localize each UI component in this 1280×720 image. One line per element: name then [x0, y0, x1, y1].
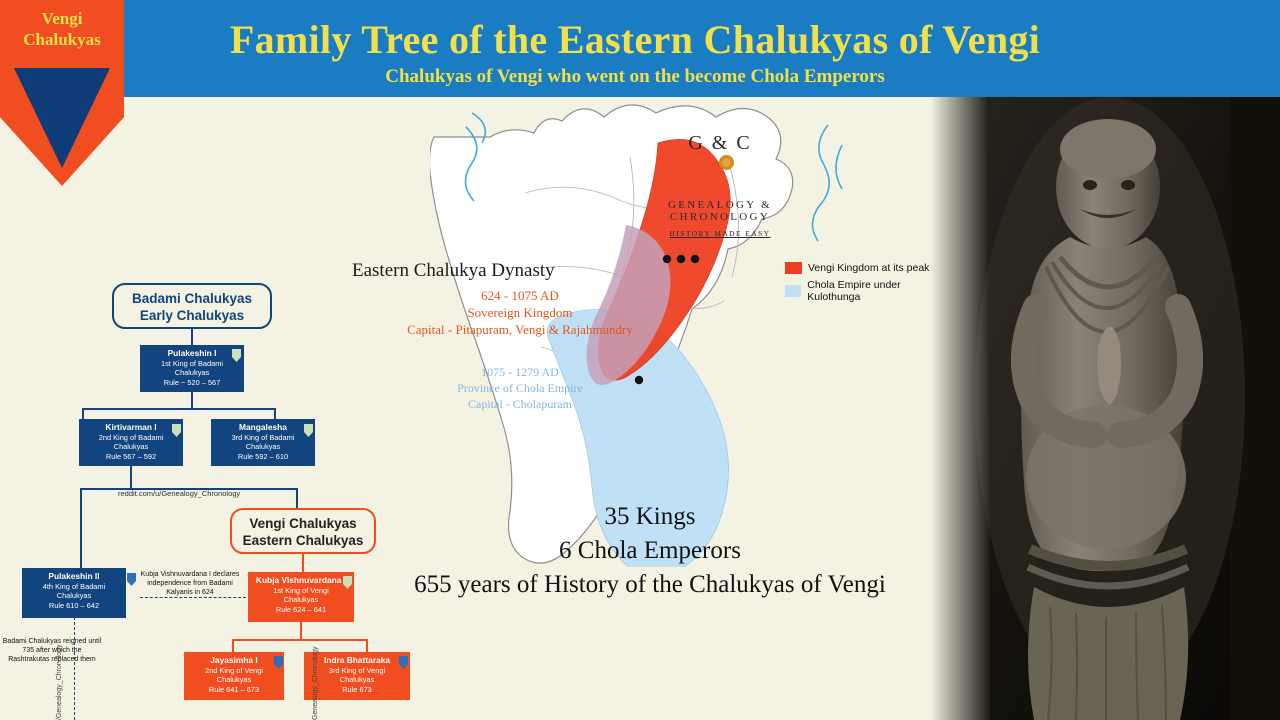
pill-vengi-line2: Eastern Chalukyas [240, 532, 366, 549]
node-mangalesha-name: Mangalesha [213, 422, 313, 433]
node-indra-bhattaraka[interactable]: Indra Bhattaraka 3rd King of Vengi Chalu… [304, 652, 410, 700]
node-kirtivarman-i-l1: 2nd King of Badami [99, 433, 164, 442]
stats-block: 35 Kings 6 Chola Emperors 655 years of H… [370, 500, 930, 602]
node-jayasimha-i[interactable]: Jayasimha I 2nd King of Vengi Chalukyas … [184, 652, 284, 700]
map-legend: Vengi Kingdom at its peak Chola Empire u… [785, 262, 950, 308]
legend-swatch-chola [785, 285, 801, 297]
node-jayasimha-name: Jayasimha I [186, 655, 282, 666]
dashed-line-badami-continue [74, 617, 75, 720]
stat-emperors: 6 Chola Emperors [370, 534, 930, 568]
shield-icon-pulakeshin-ii [127, 573, 136, 586]
connector-h-gen-vengi2 [232, 639, 368, 641]
family-tree: Badami Chalukyas Early Chalukyas Pulakes… [0, 97, 430, 720]
crest-text: Vengi Chalukyas [0, 8, 124, 50]
crest-line-2: Chalukyas [0, 29, 124, 50]
legend-swatch-vengi [785, 262, 802, 274]
node-pulakeshin-ii-l2: Chalukyas [57, 591, 92, 600]
page-header: Family Tree of the Eastern Chalukyas of … [0, 0, 1280, 97]
node-jayasimha-l2: Chalukyas [217, 675, 252, 684]
watermark-reddit-link: reddit.com/u/Genealogy_Chronology [118, 489, 240, 498]
statue-photo [930, 97, 1280, 720]
stat-years: 655 years of History of the Chalukyas of… [370, 568, 930, 602]
stat-kings: 35 Kings [370, 500, 930, 534]
connector-down-kirtivarman [82, 408, 84, 419]
note-badami-reign: Badami Chalukyas reigned until 735 after… [2, 637, 102, 664]
node-kirtivarman-i-l3: Rule 567 – 592 [106, 452, 156, 461]
pill-vengi-line1: Vengi Chalukyas [240, 515, 366, 532]
watermark-vertical-mid: Genealogy_Chronology [312, 646, 319, 720]
watermark-vertical-left: /Genealogy_Chronology [56, 645, 63, 720]
node-kubja-name: Kubja Vishnuvardana I [250, 575, 352, 586]
node-pulakeshin-i[interactable]: Pulakeshin I 1st King of Badami Chalukya… [140, 345, 244, 392]
legend-item-vengi: Vengi Kingdom at its peak [785, 262, 950, 274]
node-pulakeshin-i-l2: Chalukyas [175, 368, 210, 377]
map-watermark-sub2: HISTORY MADE EASY [625, 229, 815, 238]
node-kubja-vishnuvardana-i[interactable]: Kubja Vishnuvardana I 1st King of Vengi … [248, 572, 354, 622]
legend-item-chola: Chola Empire under Kulothunga [785, 279, 950, 303]
legend-label-chola: Chola Empire under Kulothunga [807, 279, 950, 303]
node-jayasimha-l1: 2nd King of Vengi [205, 666, 263, 675]
pill-vengi-chalukyas[interactable]: Vengi Chalukyas Eastern Chalukyas [230, 508, 376, 554]
period2-line3: Capital - Cholapuram [395, 396, 645, 412]
node-pulakeshin-i-name: Pulakeshin I [142, 348, 242, 359]
node-indra-l3: Rule 673 [342, 685, 372, 694]
period2-line2: Province of Chola Empire [395, 380, 645, 396]
node-pulakeshin-ii[interactable]: Pulakeshin II 4th King of Badami Chaluky… [22, 568, 126, 618]
map-period-province: 1075 - 1279 AD Province of Chola Empire … [395, 364, 645, 412]
node-indra-l2: Chalukyas [340, 675, 375, 684]
page-subtitle: Chalukyas of Vengi who went on the becom… [130, 66, 1140, 88]
node-kirtivarman-i-l2: Chalukyas [114, 442, 149, 451]
map-period-sovereign: 624 - 1075 AD Sovereign Kingdom Capital … [395, 287, 645, 338]
node-kirtivarman-i[interactable]: Kirtivarman I 2nd King of Badami Chaluky… [79, 419, 183, 466]
photo-fade [930, 97, 990, 720]
connector-down-kubja [300, 622, 302, 639]
node-mangalesha-l3: Rule 592 – 610 [238, 452, 288, 461]
node-mangalesha-l1: 3rd King of Badami [232, 433, 295, 442]
connector-left-down-pulakeshin2 [80, 488, 82, 568]
flower-icon [719, 155, 734, 170]
node-pulakeshin-ii-l1: 4th King of Badami [43, 582, 105, 591]
pill-badami-chalukyas[interactable]: Badami Chalukyas Early Chalukyas [112, 283, 272, 329]
connector-down-from-kirtivarman [130, 466, 132, 488]
node-kirtivarman-i-name: Kirtivarman I [81, 422, 181, 433]
node-kubja-l3: Rule 624 – 641 [276, 605, 326, 614]
pill-badami-line1: Badami Chalukyas [122, 290, 262, 307]
crest-logo[interactable]: Vengi Chalukyas [0, 0, 124, 186]
node-indra-l1: 3rd King of Vengi [329, 666, 385, 675]
map-watermark-sub: GENEALOGY & CHRONOLOGY [625, 199, 815, 223]
connector-down-mangalesha [274, 408, 276, 419]
connector-down-jayasimha [232, 639, 234, 652]
map-watermark: G & C GENEALOGY & CHRONOLOGY HISTORY MAD… [625, 132, 815, 238]
legend-label-vengi: Vengi Kingdom at its peak [808, 262, 929, 274]
node-kubja-l2: Chalukyas [284, 595, 319, 604]
period1-line3: Capital - Pitapuram, Vengi & Rajahmundry [395, 321, 645, 338]
node-indra-name: Indra Bhattaraka [306, 655, 408, 666]
node-pulakeshin-ii-l3: Rule 610 – 642 [49, 601, 99, 610]
node-mangalesha[interactable]: Mangalesha 3rd King of Badami Chalukyas … [211, 419, 315, 466]
map-watermark-main: G & C [625, 132, 815, 155]
map-panel: G & C GENEALOGY & CHRONOLOGY HISTORY MAD… [430, 97, 950, 567]
period1-line2: Sovereign Kingdom [395, 304, 645, 321]
node-kubja-l1: 1st King of Vengi [273, 586, 328, 595]
node-jayasimha-l3: Rule 641 – 673 [209, 685, 259, 694]
page-title: Family Tree of the Eastern Chalukyas of … [130, 16, 1140, 63]
node-pulakeshin-i-l3: Rule ~ 520 – 567 [164, 378, 221, 387]
connector-h-gen2 [82, 408, 276, 410]
node-mangalesha-l2: Chalukyas [246, 442, 281, 451]
connector-right-down-vengi [296, 488, 298, 508]
connector-down-gen2 [191, 392, 193, 408]
connector-badami-pulakeshin1 [191, 329, 193, 345]
dashed-arrow-independence [140, 597, 246, 598]
period1-line1: 624 - 1075 AD [395, 287, 645, 304]
connector-vengi-kubja [302, 554, 304, 572]
node-pulakeshin-ii-name: Pulakeshin II [24, 571, 124, 582]
period2-line1: 1075 - 1279 AD [395, 364, 645, 380]
crest-line-1: Vengi [0, 8, 124, 29]
pill-badami-line2: Early Chalukyas [122, 307, 262, 324]
note-independence: Kubja Vishnuvardana I declares independe… [140, 570, 240, 597]
connector-down-indra [366, 639, 368, 652]
node-pulakeshin-i-l1: 1st King of Badami [161, 359, 223, 368]
page-root: G & C GENEALOGY & CHRONOLOGY HISTORY MAD… [0, 0, 1280, 720]
